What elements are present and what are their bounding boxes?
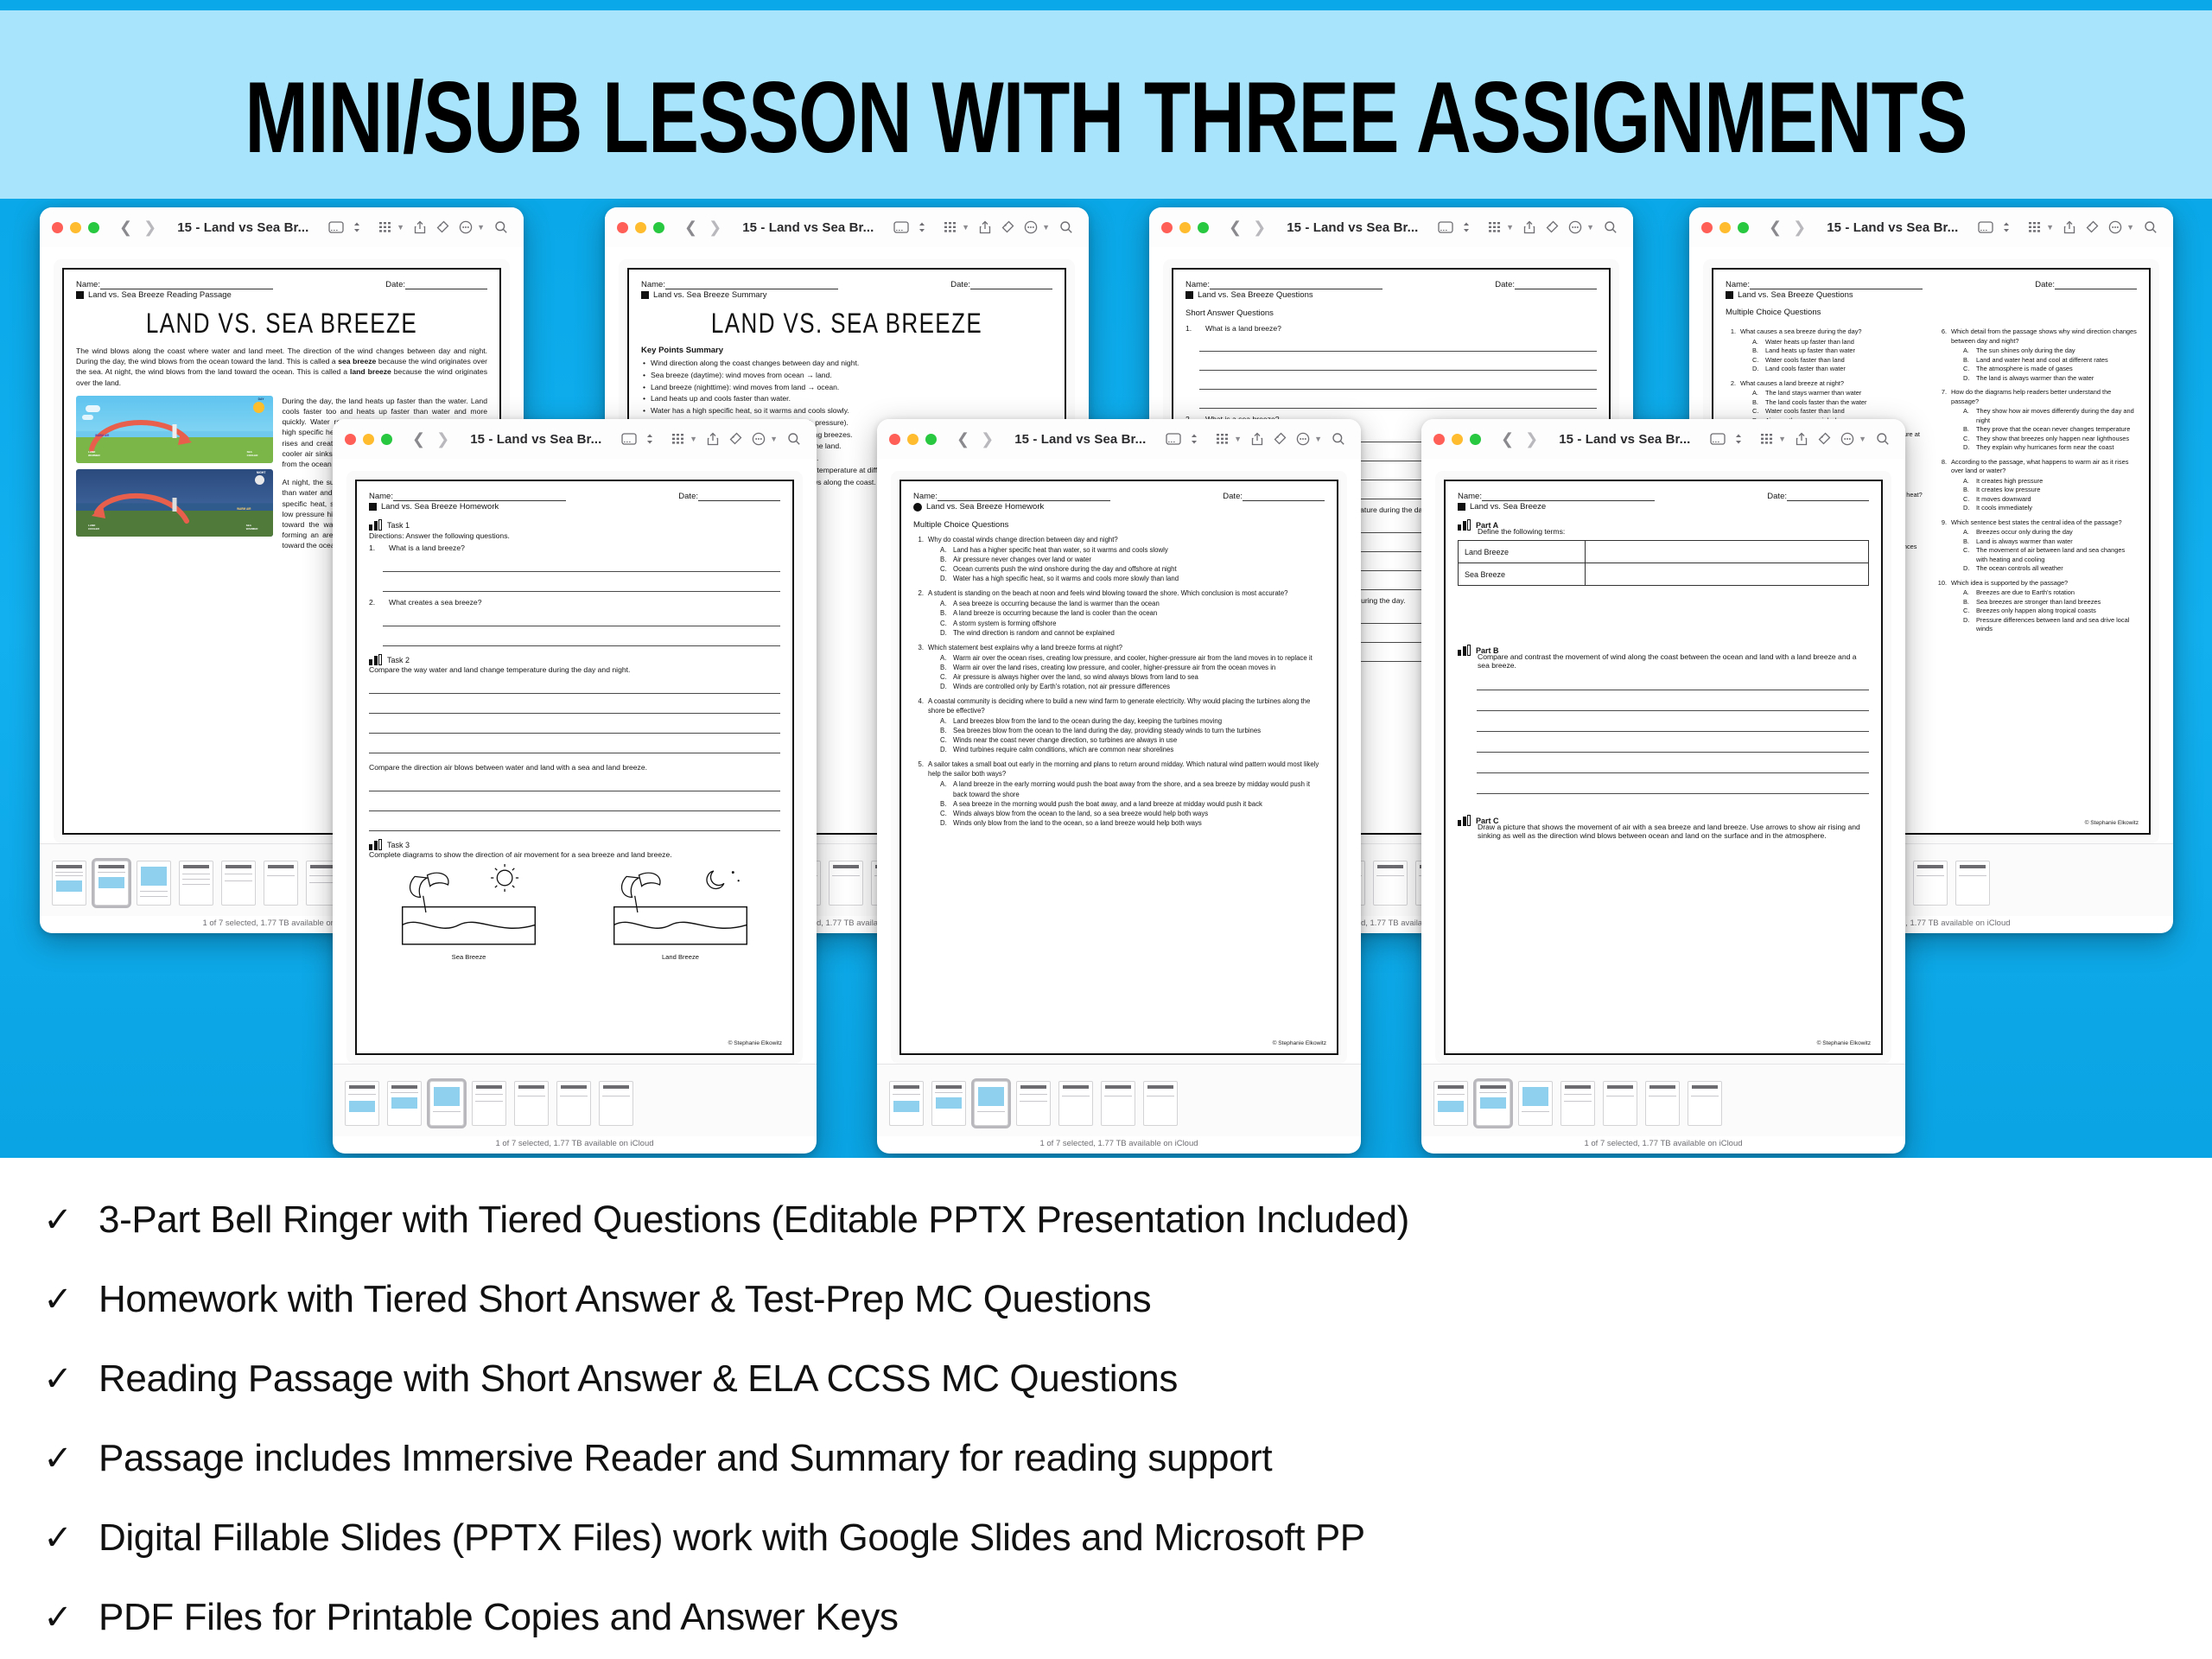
mc-options[interactable]: A.The sun shines only during the day B.L… [1951, 346, 2137, 383]
mc-option[interactable]: C.Winds near the coast never change dire… [928, 735, 1325, 745]
maximize-icon[interactable] [1198, 222, 1209, 233]
mc-question: 4.A coastal community is deciding where … [913, 696, 1325, 754]
mc-option[interactable]: B.It creates low pressure [1951, 486, 2137, 495]
share-icon[interactable] [1523, 220, 1535, 234]
thumbnail-item[interactable] [1603, 1081, 1637, 1126]
chevron-down-icon[interactable]: ▼ [1778, 435, 1786, 443]
mc-option[interactable]: A.The land stays warmer than water [1740, 389, 1867, 398]
mc-option[interactable]: C.Ocean currents push the wind onshore d… [928, 564, 1179, 574]
chevron-down-icon[interactable]: ▼ [1314, 435, 1322, 443]
mc-question: 2.A student is standing on the beach at … [913, 588, 1325, 637]
nav-buttons[interactable]: ❮ ❯ [1229, 219, 1266, 235]
mc-option[interactable]: D.The land is always warmer than the wat… [1951, 374, 2137, 384]
mc-options[interactable]: A.It creates high pressure B.It creates … [1951, 477, 2137, 513]
mc-option[interactable]: D.Water has a high specific heat, so it … [928, 574, 1179, 583]
name-blank[interactable] [1750, 289, 1923, 289]
thumbnail-item[interactable] [1143, 1081, 1178, 1126]
thumbnail-item[interactable] [52, 861, 86, 906]
close-icon[interactable] [1433, 434, 1445, 445]
thumbnail-item[interactable] [1560, 1081, 1595, 1126]
tag-icon[interactable] [1545, 220, 1559, 234]
thumbnail-item[interactable] [829, 861, 863, 906]
more-icon[interactable] [1296, 432, 1310, 446]
maximize-icon[interactable] [1738, 222, 1749, 233]
toolbar-right[interactable]: ▼ ▼ [1216, 432, 1349, 446]
thumbnail-item[interactable] [345, 1081, 379, 1126]
thumbnail-item[interactable] [599, 1081, 633, 1126]
chevron-down-icon[interactable]: ▼ [2046, 223, 2054, 232]
group-icon[interactable] [378, 221, 392, 233]
maximize-icon[interactable] [381, 434, 392, 445]
window-title: 15 - Land vs Sea Br... [1827, 220, 1958, 235]
question-number: 9. [1936, 518, 1947, 574]
thumbnail-item-selected[interactable] [1476, 1081, 1510, 1126]
view-controls[interactable] [1438, 221, 1470, 233]
tag-icon[interactable] [435, 220, 449, 234]
window-title: 15 - Land vs Sea Br... [1559, 432, 1690, 447]
section-title: Short Answer Questions [1185, 308, 1597, 318]
thumbnail-item[interactable] [1688, 1081, 1722, 1126]
date-label: Date: [2035, 280, 2055, 289]
partB-prompt: Compare and contrast the movement of win… [1478, 652, 1869, 670]
thumbnail-item-selected[interactable] [94, 861, 129, 906]
chevron-down-icon[interactable]: ▼ [2126, 223, 2134, 232]
sort-stepper-icon[interactable] [2003, 221, 2010, 233]
share-icon[interactable] [414, 220, 426, 234]
chevron-down-icon[interactable]: ▼ [477, 223, 485, 232]
traffic-lights[interactable] [1701, 222, 1749, 233]
mc-option[interactable]: C.Breezes only happen along tropical coa… [1951, 607, 2137, 616]
sort-stepper-icon[interactable] [1735, 433, 1742, 445]
mc-option[interactable]: B.Land heats up faster than water [1740, 346, 1862, 356]
mc-option[interactable]: B.Land is always warmer than water [1951, 537, 2137, 547]
maximize-icon[interactable] [925, 434, 937, 445]
view-mode-icon[interactable] [1978, 221, 1993, 233]
chevron-left-icon[interactable]: ❮ [1769, 219, 1782, 235]
maximize-icon[interactable] [653, 222, 664, 233]
mc-option[interactable]: A.They show how air moves differently du… [1951, 407, 2137, 425]
thumbnail-item[interactable] [1518, 1081, 1553, 1126]
view-controls[interactable] [893, 221, 925, 233]
maximize-icon[interactable] [1470, 434, 1481, 445]
thumbnail-item[interactable] [931, 1081, 966, 1126]
name-date-line: Name: Date: [913, 492, 1325, 501]
search-icon[interactable] [494, 220, 508, 234]
task2-header: Task 2 [369, 654, 780, 665]
term-answer-cell[interactable] [1586, 563, 1869, 586]
mc-question-list: 1.Why do coastal winds change direction … [913, 535, 1325, 828]
mc-options[interactable]: A.Land breezes blow from the land to the… [928, 716, 1325, 754]
window-titlebar[interactable]: ❮ ❯ 15 - Land vs Sea Br... ▼ [333, 419, 817, 459]
chevron-down-icon[interactable]: ▼ [770, 435, 778, 443]
check-icon: ✓ [40, 1282, 76, 1317]
window-body: Name: Date: Land vs. Sea Breeze Homework… [877, 459, 1361, 1064]
view-controls[interactable] [1978, 221, 2010, 233]
finder-window-bell-ringer[interactable]: ❮ ❯ 15 - Land vs Sea Br... ▼ [1421, 419, 1905, 1154]
name-blank[interactable] [1210, 289, 1382, 289]
question-text: What is a land breeze? [1205, 324, 1281, 333]
group-icon[interactable] [1760, 433, 1774, 445]
view-controls[interactable] [328, 221, 360, 233]
search-icon[interactable] [787, 432, 801, 446]
thumbnail-item[interactable] [1955, 861, 1990, 906]
window-titlebar[interactable]: ❮ ❯ 15 - Land vs Sea Br... ▼ [605, 207, 1089, 247]
nav-buttons[interactable]: ❮ ❯ [119, 219, 156, 235]
mc-option[interactable]: B.Land and water heat and cool at differ… [1951, 356, 2137, 365]
mc-option[interactable]: D.Wind turbines require calm conditions,… [928, 745, 1325, 754]
more-icon[interactable] [2108, 220, 2122, 234]
toolbar-right[interactable]: ▼ ▼ [671, 432, 804, 446]
mc-option[interactable]: D.Pressure differences between land and … [1951, 616, 2137, 634]
chevron-right-icon[interactable]: ❯ [1525, 431, 1538, 447]
thumbnail-item[interactable] [1373, 861, 1408, 906]
doc-subtitle-label: Land vs. Sea Breeze Reading Passage [88, 290, 232, 300]
chevron-left-icon[interactable]: ❮ [119, 219, 132, 235]
window-titlebar[interactable]: ❮ ❯ 15 - Land vs Sea Br... ▼ [1689, 207, 2173, 247]
nav-buttons[interactable]: ❮ ❯ [684, 219, 721, 235]
thumbnail-item[interactable] [221, 861, 256, 906]
minimize-icon[interactable] [635, 222, 646, 233]
chevron-left-icon[interactable]: ❮ [957, 431, 969, 447]
tag-icon[interactable] [1273, 432, 1287, 446]
sort-stepper-icon[interactable] [1191, 433, 1198, 445]
group-icon[interactable] [944, 221, 957, 233]
mc-option[interactable]: A.Breezes occur only during the day [1951, 528, 2137, 537]
mc-option[interactable]: A.A sea breeze is occurring because the … [928, 599, 1288, 608]
view-mode-icon[interactable] [621, 433, 637, 445]
check-icon: ✓ [40, 1441, 76, 1476]
day-breeze-diagram: DAY WARM AIR LANDWARMER SEACOOLER [76, 396, 273, 463]
close-icon[interactable] [52, 222, 63, 233]
more-icon[interactable] [1840, 432, 1854, 446]
group-icon[interactable] [1216, 433, 1230, 445]
copyright-notice: © Stephanie Elkowitz [2085, 820, 2139, 826]
share-icon[interactable] [707, 432, 719, 446]
mc-options[interactable]: A.A land breeze in the early morning wou… [928, 779, 1325, 827]
chevron-down-icon[interactable]: ▼ [1586, 223, 1594, 232]
mc-option[interactable]: B.They prove that the ocean never change… [1951, 425, 2137, 435]
section-title: Multiple Choice Questions [1726, 308, 2137, 317]
question-text: A coastal community is deciding where to… [928, 697, 1310, 715]
traffic-lights[interactable] [52, 222, 99, 233]
search-icon[interactable] [2144, 220, 2158, 234]
minimize-icon[interactable] [1179, 222, 1191, 233]
date-blank[interactable] [1243, 500, 1325, 501]
mc-option[interactable]: D.They explain why hurricanes form near … [1951, 443, 2137, 453]
mc-option[interactable]: A.Land has a higher specific heat than w… [928, 545, 1179, 555]
minimize-icon[interactable] [70, 222, 81, 233]
chevron-left-icon[interactable]: ❮ [684, 219, 697, 235]
sort-stepper-icon[interactable] [1463, 221, 1470, 233]
doc-subtitle: Land vs. Sea Breeze Homework [913, 502, 1325, 512]
windows-area: ❮ ❯ 15 - Land vs Sea Br... ▼ [0, 199, 2212, 1158]
window-titlebar[interactable]: ❮ ❯ 15 - Land vs Sea Br... ▼ [40, 207, 524, 247]
mc-options[interactable]: A.They show how air moves differently du… [1951, 407, 2137, 453]
name-blank[interactable] [393, 500, 566, 501]
doc-subtitle: Land vs. Sea Breeze Questions [1185, 290, 1597, 300]
nav-buttons[interactable]: ❮ ❯ [1501, 431, 1538, 447]
chevron-down-icon[interactable]: ▼ [397, 223, 404, 232]
share-icon[interactable] [979, 220, 991, 234]
terms-table: Land Breeze Sea Breeze [1458, 540, 1869, 586]
answer-lines[interactable] [1463, 680, 1869, 794]
thumbnail-strip[interactable] [877, 1064, 1361, 1136]
mc-option[interactable]: C.The atmosphere is made of gases [1951, 365, 2137, 374]
more-icon[interactable] [1568, 220, 1582, 234]
thumbnail-item[interactable] [137, 861, 171, 906]
question-number: 1. [1185, 324, 1199, 333]
document-page: Name: Date: Land vs. Sea Breeze Part A D… [1444, 480, 1883, 1055]
mc-option[interactable]: B.Warm air over the land rises, creating… [928, 663, 1313, 672]
square-bullet-icon [641, 291, 649, 299]
close-icon[interactable] [889, 434, 900, 445]
view-mode-icon[interactable] [1438, 221, 1453, 233]
thumbnail-item-selected[interactable] [974, 1081, 1008, 1126]
mc-options[interactable]: A.Land has a higher specific heat than w… [928, 545, 1179, 583]
minimize-icon[interactable] [363, 434, 374, 445]
toolbar-right[interactable]: ▼ ▼ [1760, 432, 1893, 446]
nav-buttons[interactable]: ❮ ❯ [957, 431, 994, 447]
mc-option[interactable]: D.The ocean controls all weather [1951, 564, 2137, 574]
mc-option[interactable]: C.Water cools faster than land [1740, 407, 1867, 416]
more-icon[interactable] [752, 432, 766, 446]
mc-option[interactable]: C.Winds always blow from the ocean to th… [928, 809, 1325, 818]
window-titlebar[interactable]: ❮ ❯ 15 - Land vs Sea Br... ▼ [1149, 207, 1633, 247]
mc-option[interactable]: C.Water cools faster than land [1740, 356, 1862, 365]
thumbnail-item[interactable] [1433, 1081, 1468, 1126]
close-icon[interactable] [345, 434, 356, 445]
nav-buttons[interactable]: ❮ ❯ [412, 431, 449, 447]
mc-option[interactable]: B.The land cools faster than the water [1740, 398, 1867, 408]
question-text: A student is standing on the beach at no… [928, 589, 1288, 597]
chevron-right-icon[interactable]: ❯ [436, 431, 449, 447]
date-blank[interactable] [2055, 289, 2137, 289]
view-mode-icon[interactable] [1710, 433, 1726, 445]
question-item: 1.What is a land breeze? [1185, 324, 1597, 333]
traffic-lights[interactable] [1433, 434, 1481, 445]
mc-option[interactable]: A.Water heats up faster than land [1740, 338, 1862, 347]
feature-item: ✓ 3-Part Bell Ringer with Tiered Questio… [40, 1180, 2172, 1260]
chevron-right-icon[interactable]: ❯ [709, 219, 721, 235]
traffic-lights[interactable] [345, 434, 392, 445]
question-text: Which statement best explains why a land… [928, 644, 1122, 652]
sort-stepper-icon[interactable] [353, 221, 360, 233]
diagram-label: Sea Breeze [369, 953, 569, 961]
view-controls[interactable] [621, 433, 653, 445]
close-icon[interactable] [1701, 222, 1713, 233]
date-blank[interactable] [405, 289, 487, 289]
thumbnail-item[interactable] [179, 861, 213, 906]
close-icon[interactable] [617, 222, 628, 233]
mc-option[interactable]: A.Breezes are due to Earth's rotation [1951, 588, 2137, 598]
thumbnail-item-selected[interactable] [429, 1081, 464, 1126]
copyright-notice: © Stephanie Elkowitz [1817, 1040, 1871, 1046]
name-blank[interactable] [665, 289, 838, 289]
name-date-line: Name: Date: [1185, 280, 1597, 289]
view-mode-icon[interactable] [893, 221, 909, 233]
mc-option[interactable]: B.A sea breeze in the morning would push… [928, 799, 1325, 809]
view-controls[interactable] [1710, 433, 1742, 445]
group-icon[interactable] [2028, 221, 2042, 233]
group-icon[interactable] [671, 433, 685, 445]
window-titlebar[interactable]: ❮ ❯ 15 - Land vs Sea Br... ▼ [1421, 419, 1905, 459]
chevron-down-icon[interactable]: ▼ [1234, 435, 1242, 443]
toolbar-right[interactable]: ▼ ▼ [378, 220, 512, 234]
traffic-lights[interactable] [889, 434, 937, 445]
chevron-down-icon[interactable]: ▼ [962, 223, 969, 232]
chevron-left-icon[interactable]: ❮ [1501, 431, 1514, 447]
thumbnail-item[interactable] [472, 1081, 506, 1126]
doc-subtitle-label: Land vs. Sea Breeze Homework [381, 502, 499, 512]
mc-options[interactable]: A.Warm air over the ocean rises, creatin… [928, 653, 1313, 691]
mc-option[interactable]: C.They show that breezes only happen nea… [1951, 435, 2137, 444]
chevron-right-icon[interactable]: ❯ [1793, 219, 1806, 235]
view-controls[interactable] [1166, 433, 1198, 445]
thumbnail-strip[interactable] [1421, 1064, 1905, 1136]
date-label: Date: [1767, 492, 1787, 501]
name-blank[interactable] [938, 500, 1110, 501]
sort-stepper-icon[interactable] [918, 221, 925, 233]
share-icon[interactable] [1796, 432, 1808, 446]
mc-option[interactable]: A.Land breezes blow from the land to the… [928, 716, 1325, 726]
chevron-down-icon[interactable]: ▼ [1506, 223, 1514, 232]
feature-item: ✓ PDF Files for Printable Copies and Ans… [40, 1578, 2172, 1657]
answer-lines[interactable] [355, 781, 780, 831]
view-mode-icon[interactable] [1166, 433, 1181, 445]
mc-option[interactable]: C.A storm system is forming offshore [928, 619, 1288, 628]
close-icon[interactable] [1161, 222, 1173, 233]
feature-text: 3-Part Bell Ringer with Tiered Questions… [99, 1198, 1409, 1242]
thumbnail-item[interactable] [1645, 1081, 1680, 1126]
sort-stepper-icon[interactable] [646, 433, 653, 445]
toolbar-right[interactable]: ▼ ▼ [944, 220, 1077, 234]
date-blank[interactable] [1787, 500, 1869, 501]
mc-options[interactable]: A.A sea breeze is occurring because the … [928, 599, 1288, 637]
thumbnail-item[interactable] [1913, 861, 1948, 906]
chevron-down-icon[interactable]: ▼ [690, 435, 697, 443]
minimize-icon[interactable] [1719, 222, 1731, 233]
answer-lines[interactable] [1185, 341, 1597, 409]
traffic-lights[interactable] [1161, 222, 1209, 233]
mc-option[interactable]: B.Sea breezes are stronger than land bre… [1951, 598, 2137, 607]
chevron-left-icon[interactable]: ❮ [412, 431, 425, 447]
date-blank[interactable] [970, 289, 1052, 289]
answer-lines[interactable] [369, 562, 780, 592]
mc-option[interactable]: B.Air pressure never changes over land o… [928, 555, 1179, 564]
name-date-line: Name: Date: [1458, 492, 1869, 501]
mc-option[interactable]: D.Land cools faster than water [1740, 365, 1862, 374]
mc-option[interactable]: B.Sea breezes blow from the ocean to the… [928, 726, 1325, 735]
chevron-right-icon[interactable]: ❯ [1253, 219, 1266, 235]
thumbnail-item[interactable] [264, 861, 298, 906]
mc-options[interactable]: A.Breezes occur only during the day B.La… [1951, 528, 2137, 574]
toolbar-right[interactable]: ▼ ▼ [1488, 220, 1621, 234]
mc-option[interactable]: B.A land breeze is occurring because the… [928, 608, 1288, 618]
thumbnail-item[interactable] [387, 1081, 422, 1126]
search-icon[interactable] [1876, 432, 1890, 446]
date-blank[interactable] [698, 500, 780, 501]
doc-subtitle-label: Land vs. Sea Breeze Summary [653, 290, 766, 300]
thumbnail-item[interactable] [1016, 1081, 1051, 1126]
document-page: Name: Date: Land vs. Sea Breeze Homework… [899, 480, 1338, 1055]
chevron-down-icon[interactable]: ▼ [1859, 435, 1866, 443]
mc-option[interactable]: A.Warm air over the ocean rises, creatin… [928, 653, 1313, 663]
finder-window-homework-short-answer[interactable]: ❮ ❯ 15 - Land vs Sea Br... ▼ [333, 419, 817, 1154]
name-blank[interactable] [100, 289, 273, 289]
chevron-down-icon[interactable]: ▼ [1042, 223, 1050, 232]
finder-window-homework-mc[interactable]: ❮ ❯ 15 - Land vs Sea Br... ▼ [877, 419, 1361, 1154]
thumbnail-item[interactable] [1101, 1081, 1135, 1126]
thumbnail-item[interactable] [889, 1081, 924, 1126]
minimize-icon[interactable] [907, 434, 918, 445]
search-icon[interactable] [1059, 220, 1073, 234]
answer-lines[interactable] [355, 683, 780, 753]
search-icon[interactable] [1604, 220, 1618, 234]
share-icon[interactable] [2063, 220, 2075, 234]
doc-subtitle: Land vs. Sea Breeze [1458, 502, 1869, 512]
group-icon[interactable] [1488, 221, 1502, 233]
toolbar-right[interactable]: ▼ ▼ [2028, 220, 2161, 234]
question-number: 5. [913, 760, 924, 827]
mc-option[interactable]: A.It creates high pressure [1951, 477, 2137, 486]
date-blank[interactable] [1515, 289, 1597, 289]
name-label: Name: [1726, 280, 1750, 289]
mc-option[interactable]: C.Air pressure is always higher over the… [928, 672, 1313, 682]
mc-option[interactable]: D.It cools immediately [1951, 504, 2137, 513]
tag-icon[interactable] [728, 432, 742, 446]
thumbnail-strip[interactable] [333, 1064, 817, 1136]
header-banner: MINI/SUB LESSON WITH THREE ASSIGNMENTS [0, 10, 2212, 199]
view-mode-icon[interactable] [328, 221, 344, 233]
window-titlebar[interactable]: ❮ ❯ 15 - Land vs Sea Br... ▼ [877, 419, 1361, 459]
answer-lines[interactable] [369, 616, 780, 646]
search-icon[interactable] [1332, 432, 1345, 446]
thumbnail-item[interactable] [1058, 1081, 1093, 1126]
mc-option[interactable]: D.The wind direction is random and canno… [928, 628, 1288, 638]
name-date-line: Name: Date: [1726, 280, 2137, 289]
mc-option[interactable]: D.Winds only blow from the land to the o… [928, 818, 1325, 828]
mc-options[interactable]: A.Breezes are due to Earth's rotation B.… [1951, 588, 2137, 634]
square-bullet-icon [1185, 291, 1193, 299]
mc-option[interactable]: C.The movement of air between land and s… [1951, 546, 2137, 564]
tag-icon[interactable] [1817, 432, 1831, 446]
chevron-right-icon[interactable]: ❯ [981, 431, 994, 447]
diagram-pair: Sea Breeze [369, 864, 780, 961]
chevron-right-icon[interactable]: ❯ [143, 219, 156, 235]
mc-option[interactable]: C.It moves downward [1951, 495, 2137, 505]
chevron-left-icon[interactable]: ❮ [1229, 219, 1242, 235]
more-icon[interactable] [1024, 220, 1038, 234]
mc-option[interactable]: A.The sun shines only during the day [1951, 346, 2137, 356]
more-icon[interactable] [459, 220, 473, 234]
mc-option[interactable]: A.A land breeze in the early morning wou… [928, 779, 1325, 798]
term-answer-cell[interactable] [1586, 541, 1869, 563]
thumbnail-item[interactable] [556, 1081, 591, 1126]
nav-buttons[interactable]: ❮ ❯ [1769, 219, 1806, 235]
mc-options[interactable]: A.Water heats up faster than land B.Land… [1740, 338, 1862, 374]
tag-icon[interactable] [1001, 220, 1014, 234]
thumbnail-item[interactable] [514, 1081, 549, 1126]
traffic-lights[interactable] [617, 222, 664, 233]
question-number: 8. [1936, 458, 1947, 513]
maximize-icon[interactable] [88, 222, 99, 233]
minimize-icon[interactable] [1452, 434, 1463, 445]
tag-icon[interactable] [2085, 220, 2099, 234]
name-blank[interactable] [1482, 500, 1655, 501]
share-icon[interactable] [1251, 432, 1263, 446]
feature-text: Reading Passage with Short Answer & ELA … [99, 1357, 1178, 1401]
mc-option[interactable]: D.Winds are controlled only by Earth's r… [928, 682, 1313, 691]
